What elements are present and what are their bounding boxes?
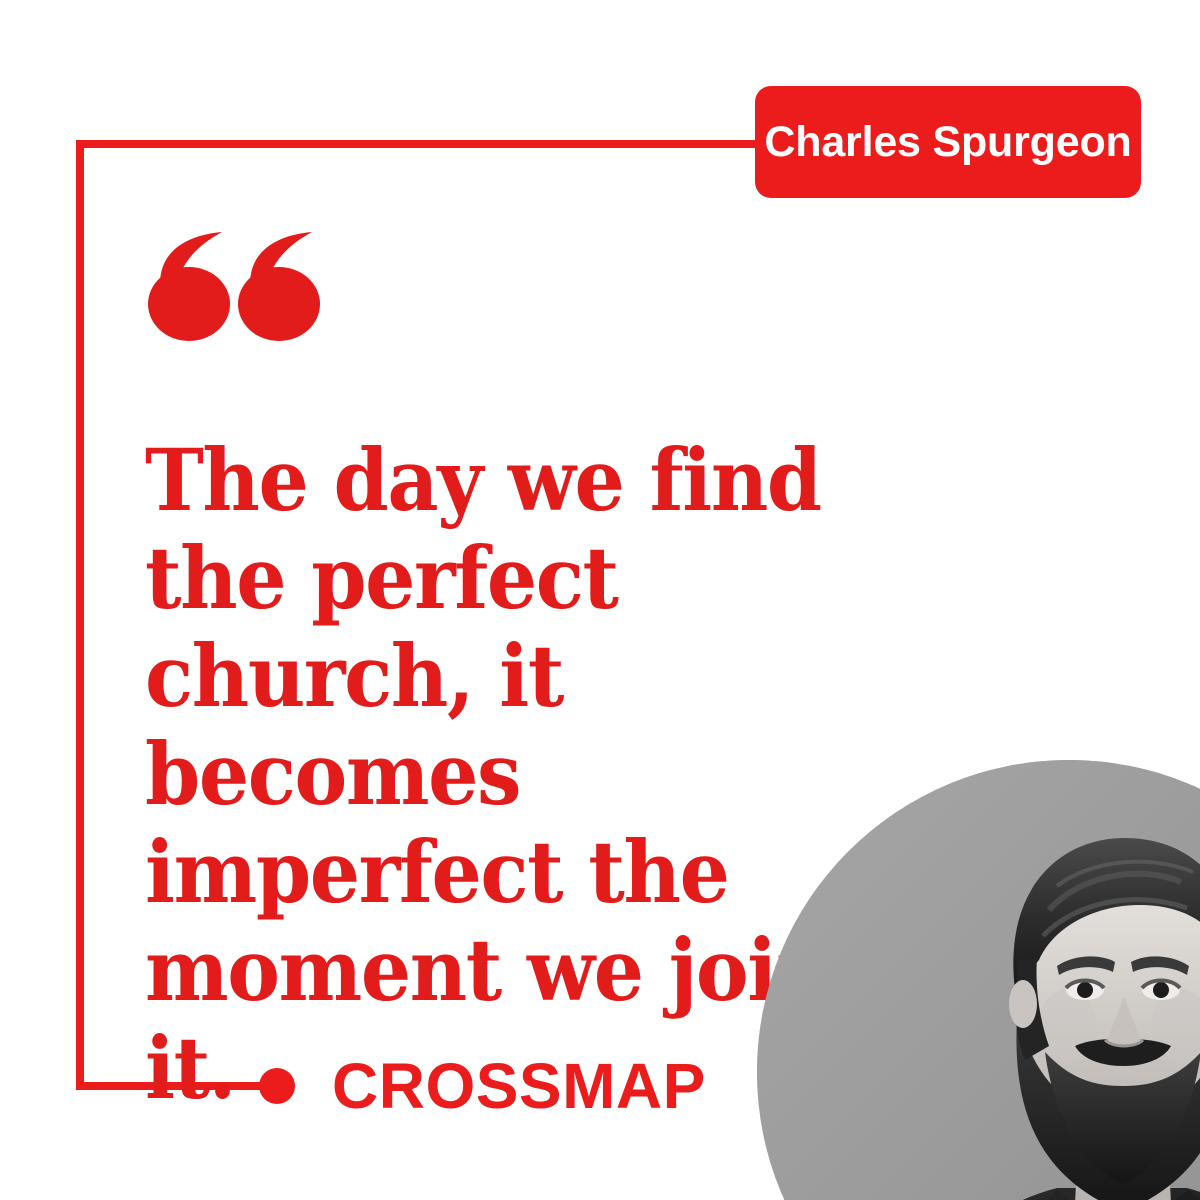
frame-left-line [76, 140, 84, 1090]
author-portrait [757, 760, 1200, 1200]
quote-card: Charles Spurgeon The day we find the per… [0, 0, 1200, 1200]
brand-wordmark: CROSSMAP [332, 1054, 706, 1118]
author-name: Charles Spurgeon [764, 118, 1131, 167]
brand-lockup[interactable]: CROSSMAP [332, 1050, 706, 1122]
quotation-mark-icon [146, 232, 326, 342]
author-badge[interactable]: Charles Spurgeon [755, 86, 1141, 198]
frame-top-line [76, 140, 760, 148]
